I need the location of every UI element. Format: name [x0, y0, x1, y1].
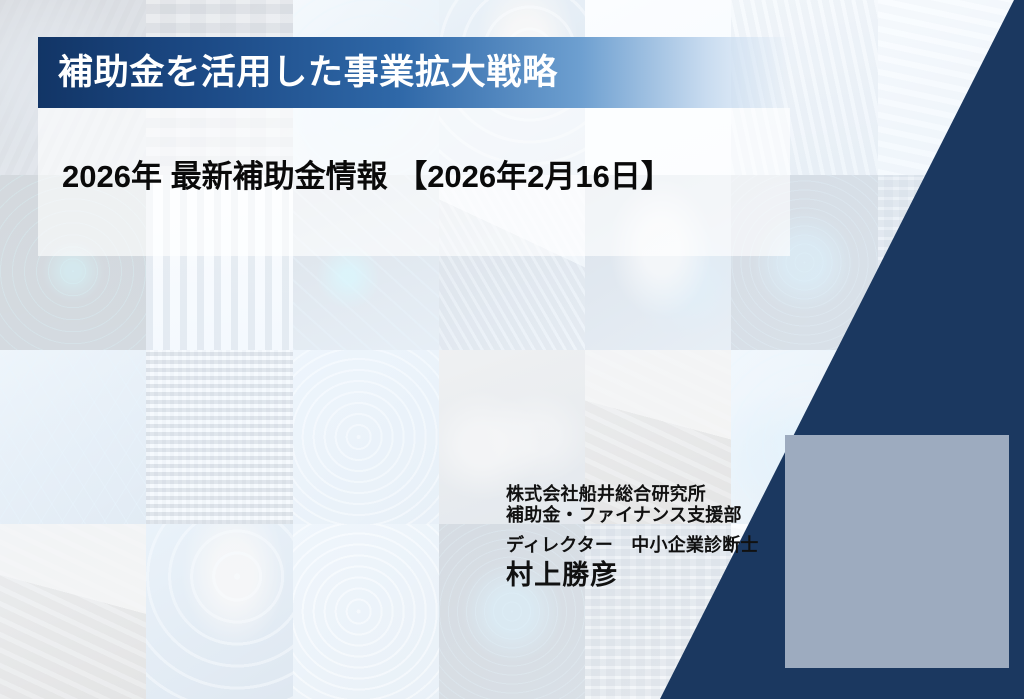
- grey-accent-panel: [785, 435, 1009, 668]
- presenter-block: 株式会社船井総合研究所 補助金・ファイナンス支援部 ディレクター 中小企業診断士…: [506, 484, 759, 592]
- presenter-name: 村上勝彦: [506, 560, 759, 592]
- presentation-slide: 補助金を活用した事業拡大戦略 2026年 最新補助金情報 【2026年2月16日…: [0, 0, 1024, 699]
- page-title: 補助金を活用した事業拡大戦略: [38, 55, 558, 90]
- title-bar: 補助金を活用した事業拡大戦略: [38, 37, 790, 108]
- presenter-company: 株式会社船井総合研究所: [506, 484, 759, 505]
- presenter-role: ディレクター 中小企業診断士: [506, 535, 759, 556]
- subtitle: 2026年 最新補助金情報 【2026年2月16日】: [62, 160, 672, 194]
- presenter-department: 補助金・ファイナンス支援部: [506, 505, 759, 526]
